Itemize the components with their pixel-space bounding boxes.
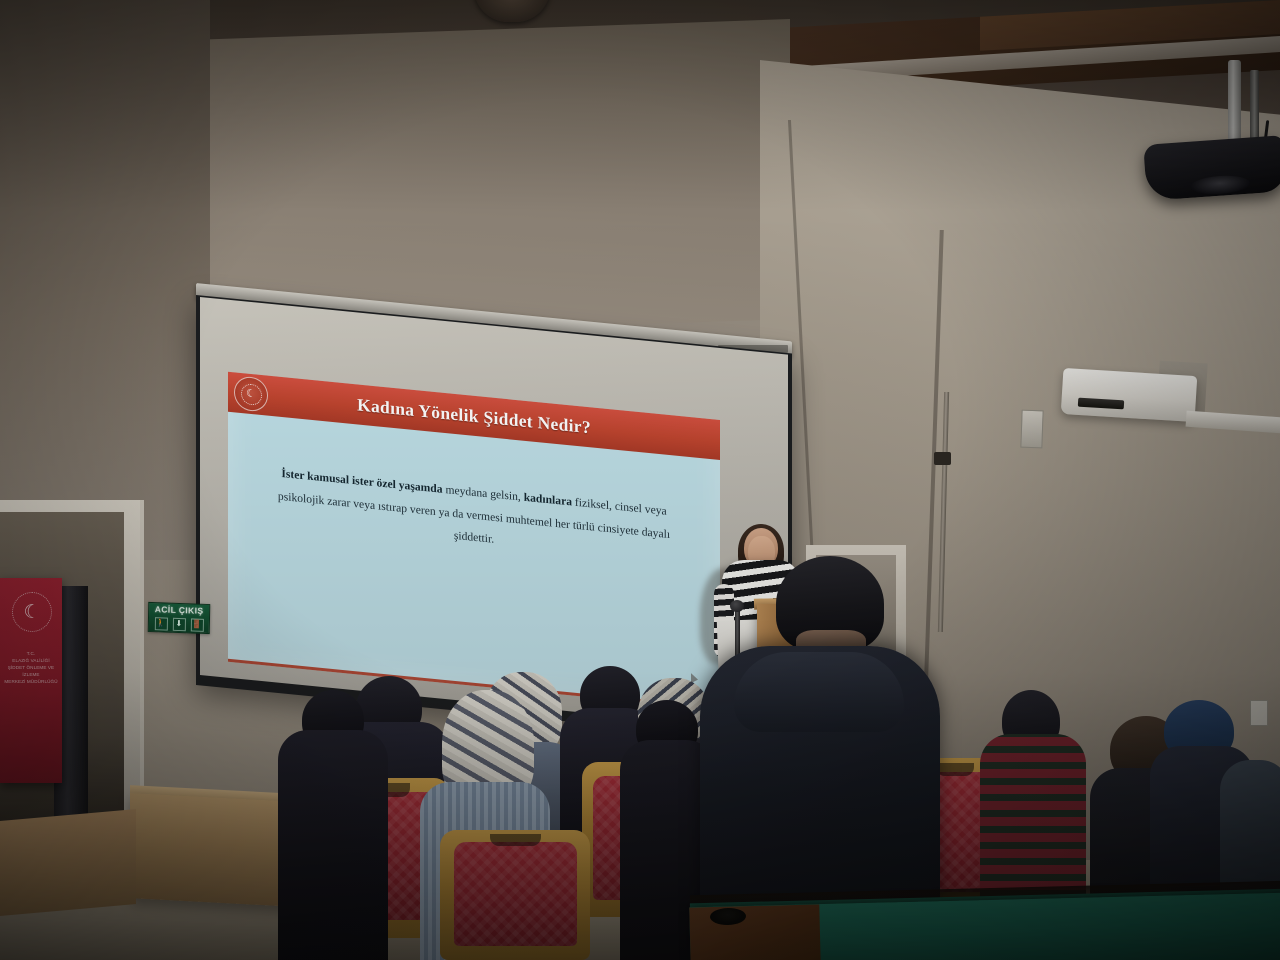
down-arrow-icon: ⬇ [172,617,185,630]
attendee-right-plaid [980,690,1086,900]
slide-body-text-1: meydana gelsin, [443,483,524,504]
chair-cushion [454,842,577,946]
rollup-banner: ☾ T.C. ELAZIĞ VALİLİĞİ ŞİDDET ÖNLEME VE … [0,578,62,783]
attendee-torso-plaid [980,734,1086,906]
turkish-ministry-emblem-icon: ☾ [234,375,268,412]
running-person-icon: 🚶 [154,617,167,630]
banner-line-2: ELAZIĞ VALİLİĞİ [3,657,59,664]
exit-sign-label: ACİL ÇIKIŞ [149,603,209,617]
jacket-hood [734,652,904,732]
banner-text: T.C. ELAZIĞ VALİLİĞİ ŞİDDET ÖNLEME VE İZ… [3,650,59,686]
thermostat-panel[interactable] [1020,410,1043,449]
left-wall [0,0,210,560]
pool-table-wood-corner [689,904,820,960]
chair-handle-notch [936,763,973,777]
chair-handle-notch [490,834,541,846]
emergency-exit-sign: ACİL ÇIKIŞ 🚶 ⬇ 🚪 [148,602,210,634]
banner-line-1: T.C. [3,650,59,657]
air-conditioner-icon [1061,368,1198,422]
conduit-junction-box [934,452,951,465]
exit-sign-pictograms: 🚶 ⬇ 🚪 [149,615,209,633]
slide-body-bold-2: kadınlara [524,491,572,509]
slide-body-text-2: fiziksel, [572,495,612,512]
door-icon: 🚪 [190,618,203,631]
banner-line-3: ŞİDDET ÖNLEME VE İZLEME [3,664,59,678]
banner-line-4: MERKEZİ MÜDÜRLÜĞÜ [3,678,59,685]
conference-hall-photo: ☾ Kadına Yönelik Şiddet Nedir? İster kam… [0,0,1280,960]
emblem-inner-glyph: ☾ [241,382,262,405]
presentation-slide: ☾ Kadına Yönelik Şiddet Nedir? İster kam… [228,372,720,710]
banner-emblem-icon: ☾ [12,592,52,632]
chair-front-1[interactable] [440,830,590,960]
attendee-front-1 [278,690,388,960]
attendee-torso [278,730,388,960]
stage-platform-side [0,809,136,916]
